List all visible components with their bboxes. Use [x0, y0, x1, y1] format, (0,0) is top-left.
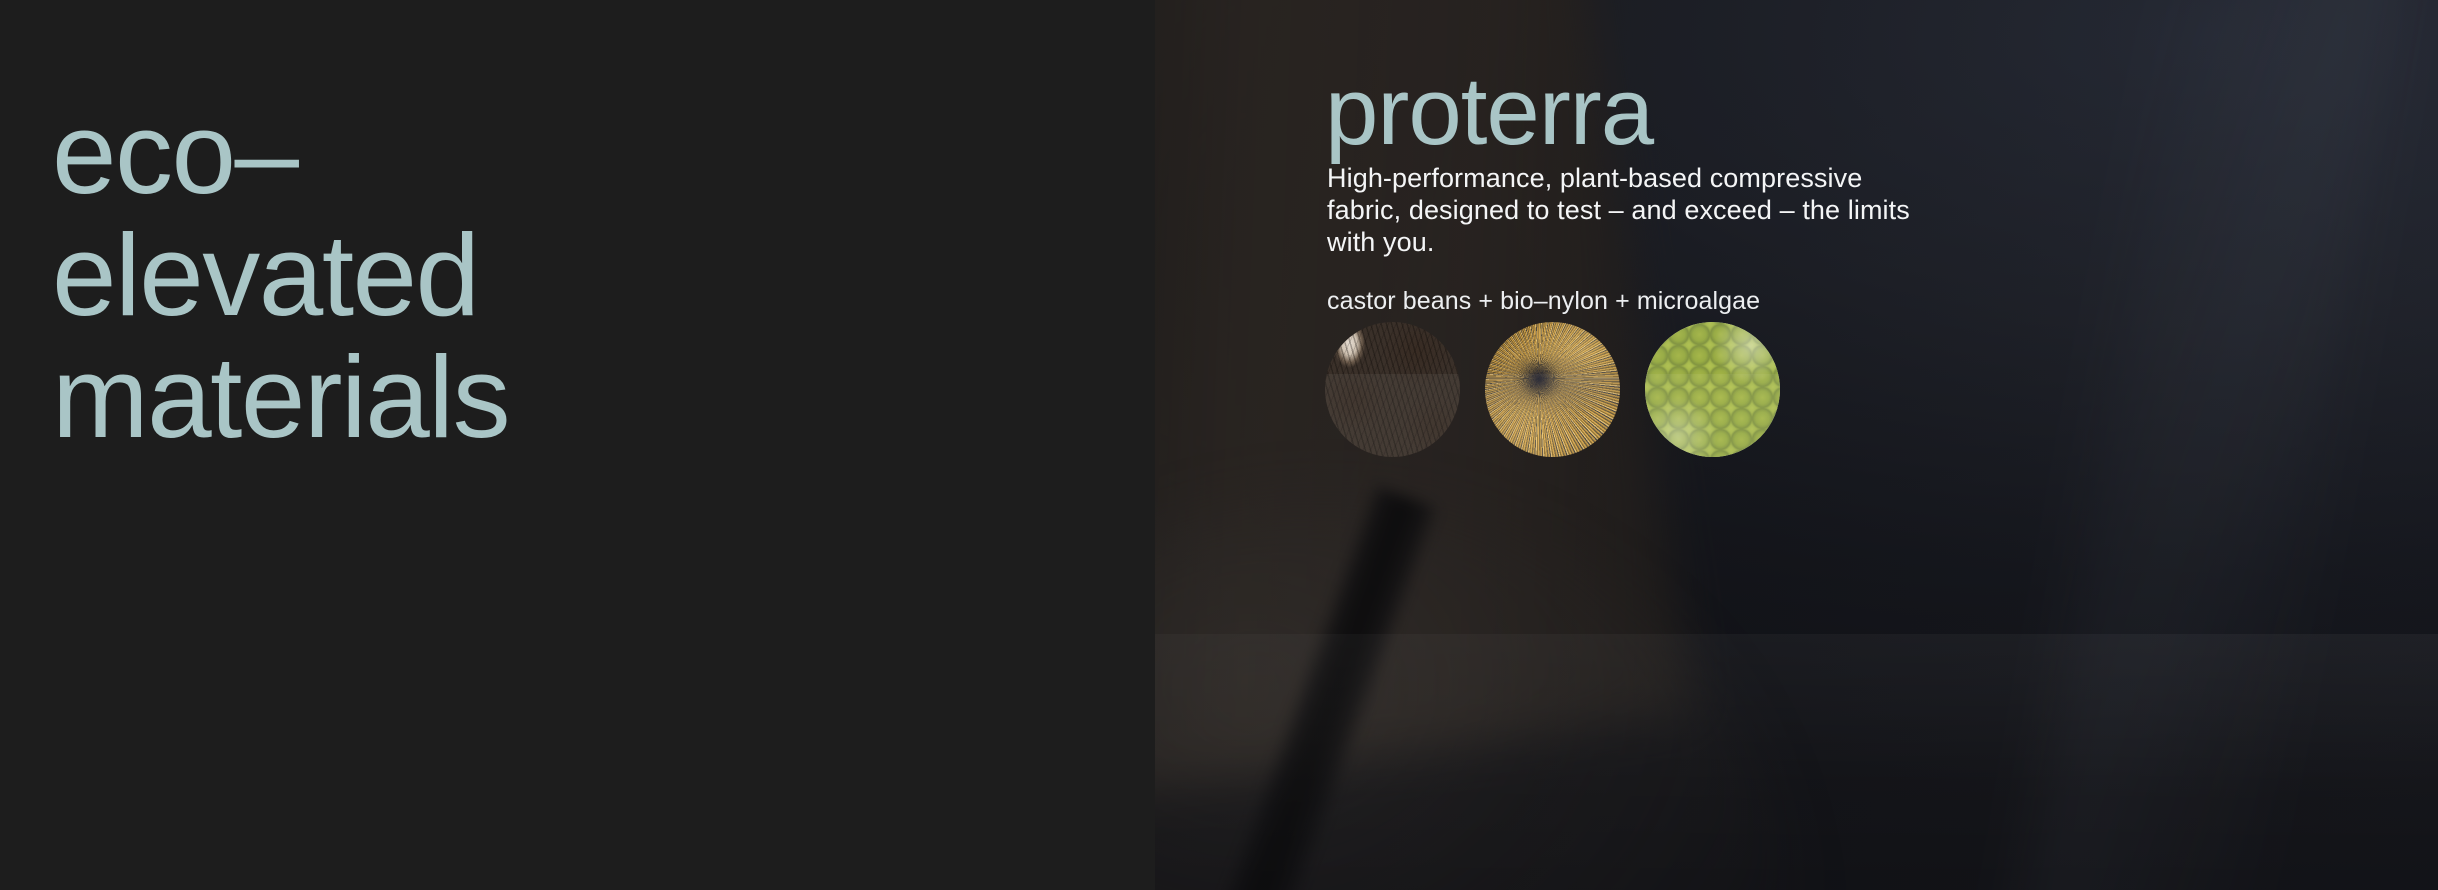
product-title: proterra	[1325, 60, 1653, 164]
material-swatch-row	[1325, 322, 1780, 457]
right-panel: proterra High-performance, plant-based c…	[1155, 0, 2438, 890]
product-description: High-performance, plant-based compressiv…	[1327, 162, 1927, 258]
ingredients-label: castor beans + bio–nylon + microalgae	[1327, 286, 1760, 316]
left-panel: eco– elevated materials	[0, 0, 1155, 890]
swatch-band-overlay	[1485, 374, 1620, 457]
product-content: proterra High-performance, plant-based c…	[1325, 0, 2365, 890]
headline-line-2: elevated	[52, 214, 1072, 336]
swatch-band-overlay	[1645, 374, 1780, 457]
swatch-band-overlay	[1325, 374, 1460, 457]
page-title: eco– elevated materials	[52, 92, 1072, 458]
eco-materials-slide: eco– elevated materials proterra High-pe…	[0, 0, 2438, 890]
headline-line-1: eco–	[52, 92, 1072, 214]
microalgae-swatch[interactable]	[1645, 322, 1780, 457]
headline-line-3: materials	[52, 336, 1072, 458]
bio-nylon-swatch[interactable]	[1485, 322, 1620, 457]
castor-beans-swatch[interactable]	[1325, 322, 1460, 457]
